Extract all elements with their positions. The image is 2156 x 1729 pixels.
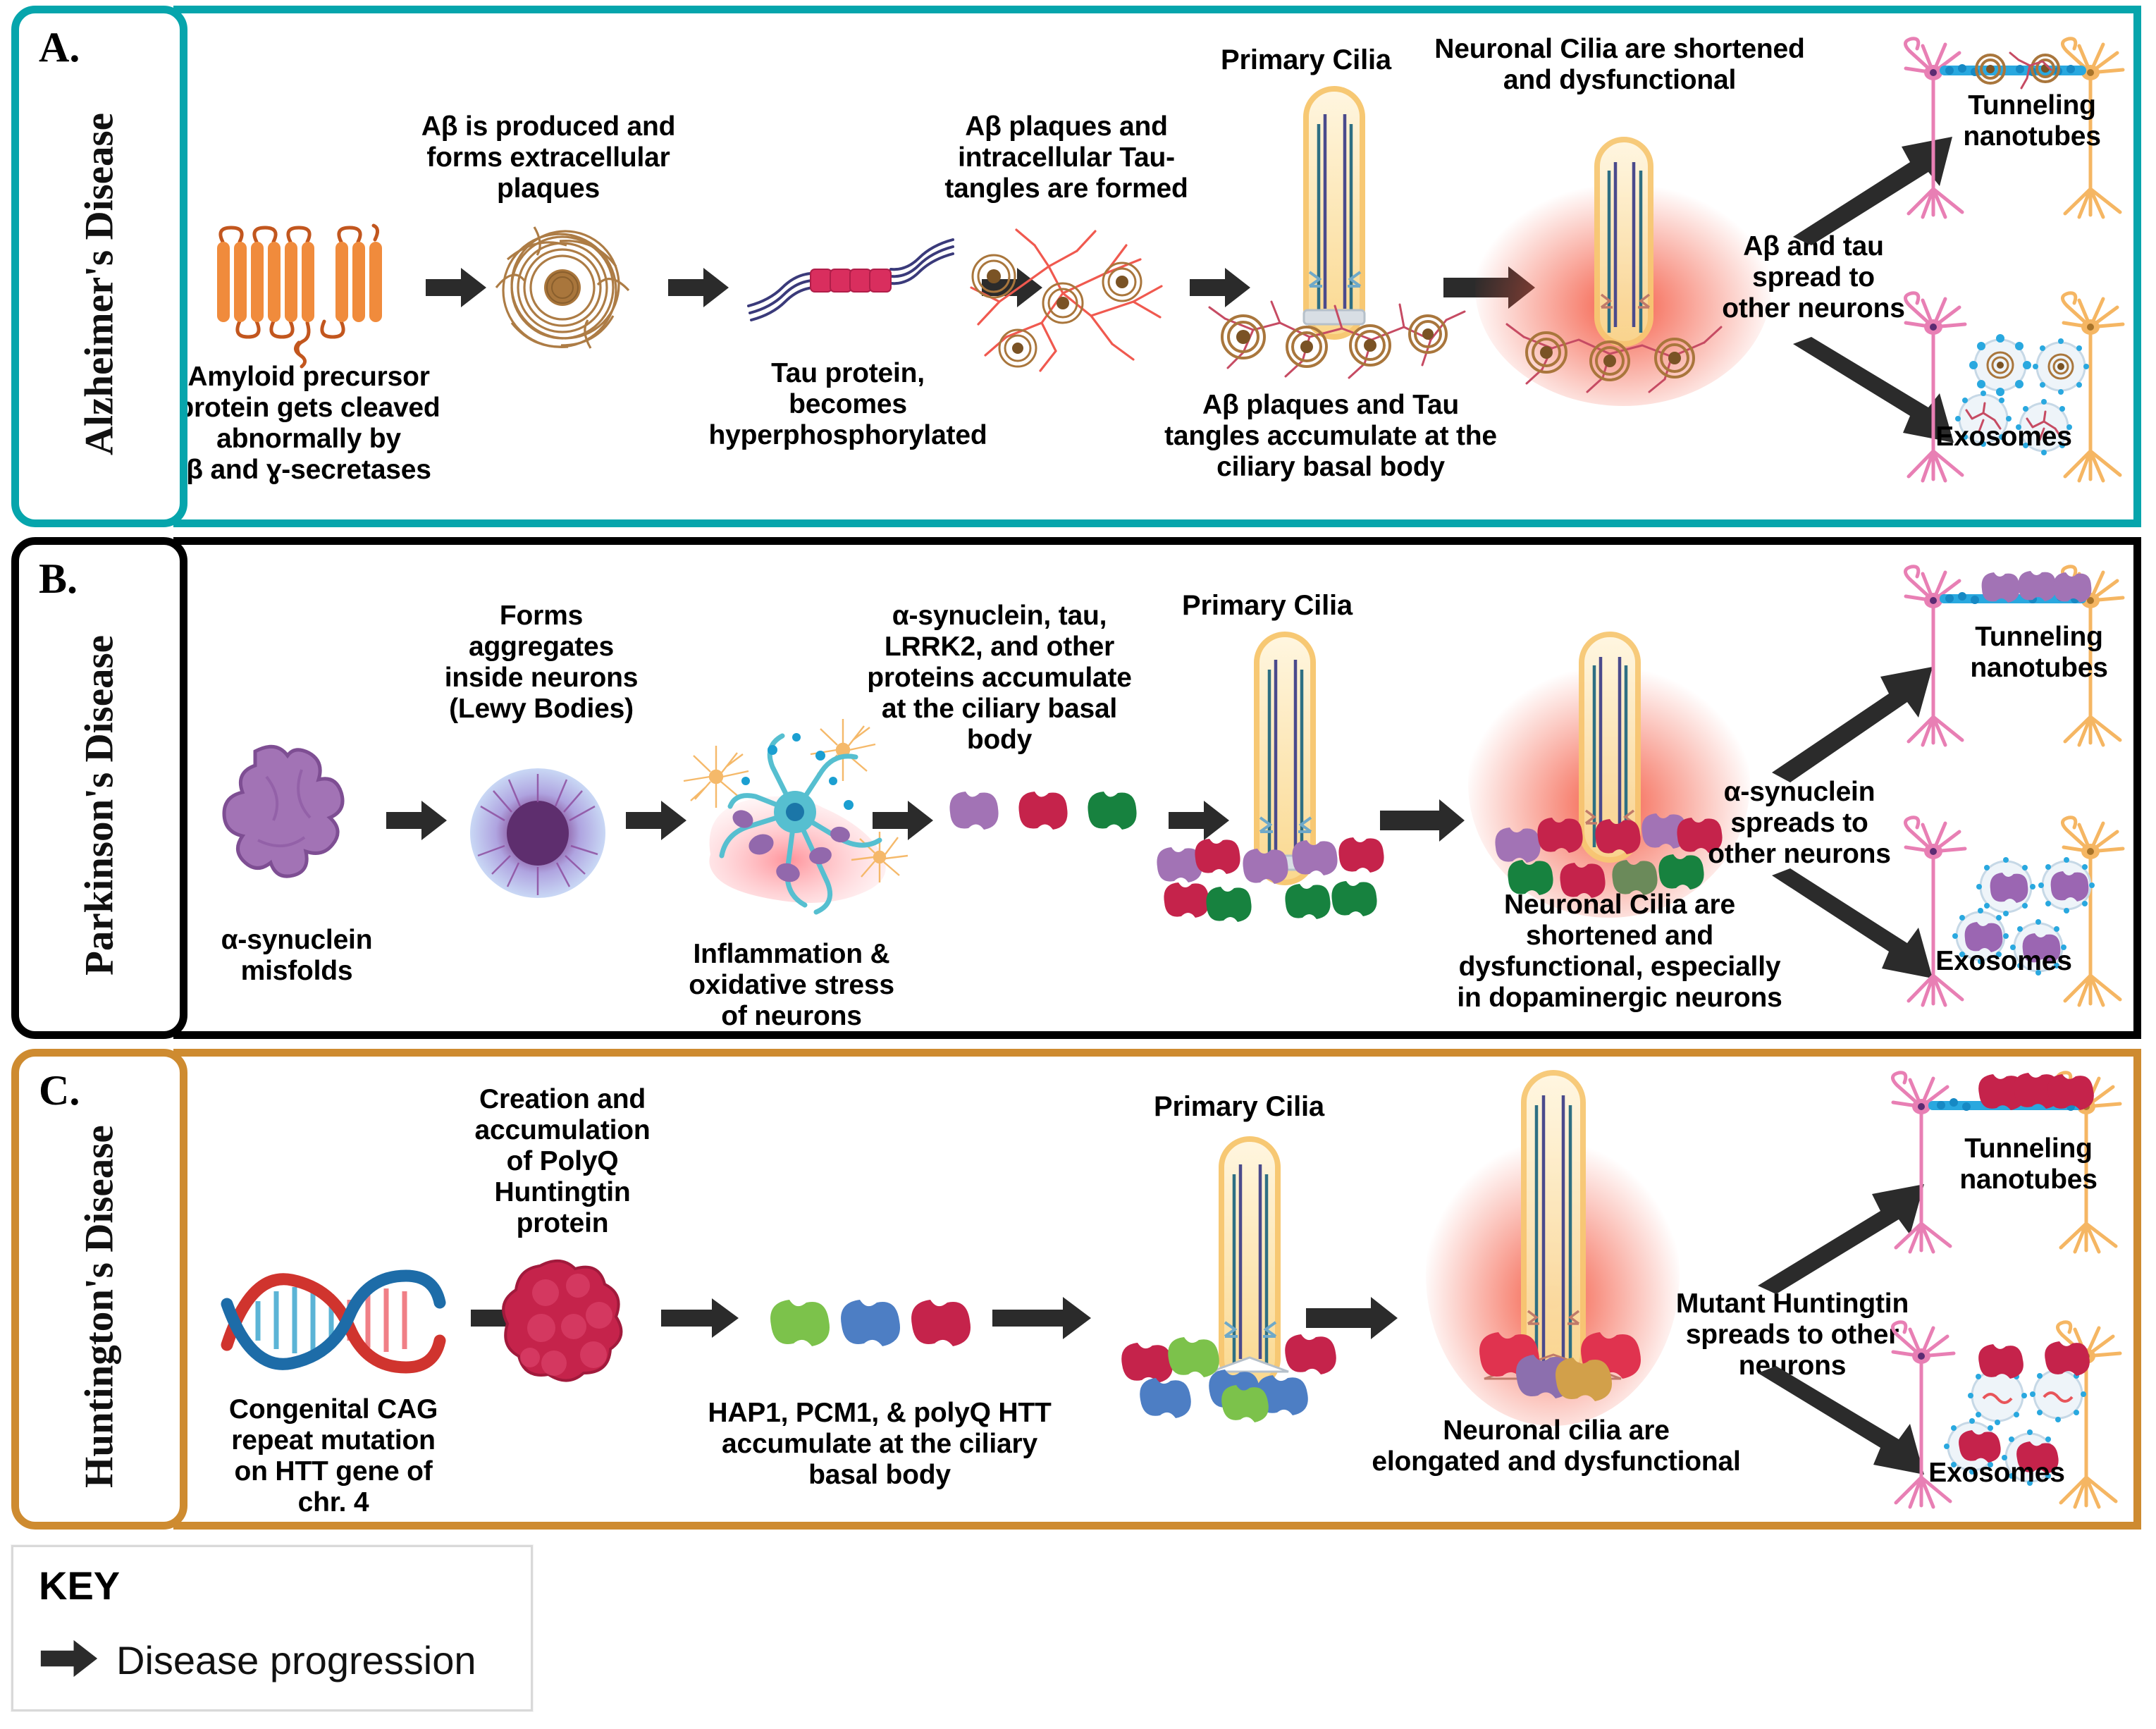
caption-synuclein: α-synuclein misfolds [195,925,399,987]
caption-plaques-tangles: Aβ plaques and intracellular Tau- tangle… [915,111,1218,204]
key-title: KEY [39,1563,120,1608]
misfolded-alpha-synuclein-icon [217,742,372,918]
panel-parkinsons-tab: B. Parkinson's Disease [11,537,187,1039]
caption-primary-cilia: Primary Cilia [1147,590,1387,622]
dna-double-helix-icon [217,1260,450,1380]
polyq-huntingtin-protein-icon [499,1253,640,1401]
amyloid-precursor-protein-icon [210,224,400,344]
caption-primary-cilia: Primary Cilia [1190,44,1422,76]
figure-root: A. Alzheimer's Disease [0,0,2156,1729]
panel-parkinsons: B. Parkinson's Disease α-synuclein misfo… [6,537,2148,1039]
caption-abeta: Aβ is produced and forms extracellular p… [400,111,696,204]
label-exosomes: Exosomes [1895,1458,2099,1489]
caption-elongated-cilia: Neuronal cilia are elongated and dysfunc… [1331,1415,1782,1477]
panel-alzheimers: A. Alzheimer's Disease [6,6,2148,527]
key-box: KEY Disease progression [11,1545,533,1711]
tau-protein-icon [746,245,957,330]
progression-arrow [661,1297,739,1339]
plaques-and-tangles-icon [957,217,1183,379]
basal-body-aggregates [1204,288,1472,386]
caption-basal-body: Aβ plaques and Tau tangles accumulate at… [1147,390,1514,483]
caption-polyq: Creation and accumulation of PolyQ Hunti… [429,1084,696,1239]
caption-app: Amyloid precursor protein gets cleaved a… [168,362,450,486]
progression-arrow [992,1297,1091,1339]
panel-huntingtons-tab: C. Huntington's Disease [11,1049,187,1530]
basal-body-protein-cluster [1119,1331,1366,1436]
protein-aggregates-icon [943,780,1154,858]
progression-arrow [626,799,686,842]
key-legend-row: Disease progression [39,1637,476,1683]
caption-hap1: HAP1, PCM1, & polyQ HTT accumulate at th… [661,1398,1098,1491]
basal-body-protein-cluster [1154,833,1415,939]
caption-cag: Congenital CAG repeat mutation on HTT ge… [196,1394,471,1518]
panel-alzheimers-tab: A. Alzheimer's Disease [11,6,187,527]
label-tunneling-nanotubes: Tunneling nanotubes [1923,1133,2134,1195]
label-exosomes: Exosomes [1902,422,2106,453]
key-legend-label: Disease progression [116,1637,476,1683]
panel-title-huntingtons: Huntington's Disease [19,1057,180,1522]
progression-arrow [386,799,447,842]
progression-arrow [873,799,933,842]
progression-arrow [426,266,486,309]
panel-title-parkinsons: Parkinson's Disease [19,545,180,1031]
panel-title-alzheimers: Alzheimer's Disease [19,13,180,519]
caption-lewy: Forms aggregates inside neurons (Lewy Bo… [407,601,675,725]
panel-huntingtons: C. Huntington's Disease Congenital CAG r… [6,1049,2148,1530]
exosome-neurons-icon [1895,288,2134,506]
protein-aggregates-icon [767,1288,978,1366]
label-exosomes: Exosomes [1902,946,2106,977]
label-tunneling-nanotubes: Tunneling nanotubes [1930,90,2134,152]
progression-arrow [1306,1297,1398,1339]
progression-arrow [1380,799,1465,842]
exosome-neurons-icon [1895,812,2134,1030]
caption-primary-cilia: Primary Cilia [1119,1091,1359,1123]
label-tunneling-nanotubes: Tunneling nanotubes [1937,622,2141,684]
amyloid-beta-plaque-icon [492,217,633,358]
right-arrow-icon [39,1639,99,1682]
lewy-body-icon [464,763,612,904]
caption-shortened-cilia: Neuronal Cilia are shortened and dysfunc… [1401,34,1838,96]
exosome-neurons-icon [1880,1317,2134,1528]
caption-protein-accumulation: α-synuclein, tau, LRRK2, and other prote… [837,601,1162,756]
progression-arrow [668,266,729,309]
caption-inflammation: Inflammation & oxidative stress of neuro… [640,939,943,1032]
caption-spread: α-synuclein spreads to other neurons [1676,777,1923,870]
